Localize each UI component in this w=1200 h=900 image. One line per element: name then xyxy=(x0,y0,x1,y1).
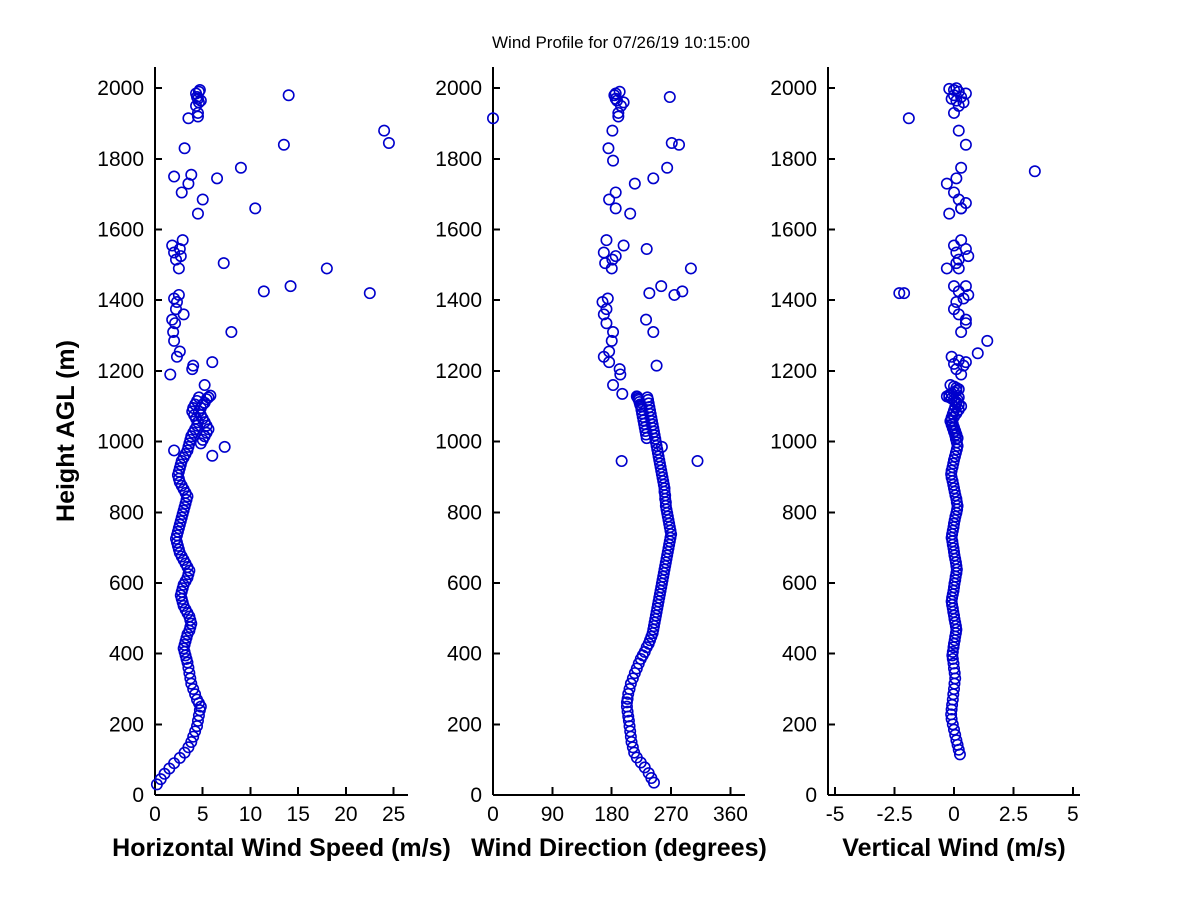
y-tick-label-1-0: 0 xyxy=(132,784,144,807)
y-tick-label-1-8: 1600 xyxy=(97,219,144,242)
y-tick-label-1-7: 1400 xyxy=(97,289,144,312)
wind-profile-figure: 0200400600800100012001400160018002000051… xyxy=(0,0,1200,900)
x-tick-label-2-2: 180 xyxy=(594,803,629,826)
x-tick-label-3-2: 0 xyxy=(948,803,960,826)
x-tick-label-2-4: 360 xyxy=(713,803,748,826)
y-tick-label-3-7: 1400 xyxy=(770,289,817,312)
y-tick-label-1-1: 200 xyxy=(109,713,144,736)
y-tick-label-1-2: 400 xyxy=(109,643,144,666)
y-tick-label-3-0: 0 xyxy=(805,784,817,807)
y-tick-label-2-8: 1600 xyxy=(435,219,482,242)
y-tick-label-2-6: 1200 xyxy=(435,360,482,383)
x-tick-label-1-5: 25 xyxy=(382,803,405,826)
x-tick-label-3-1: -2.5 xyxy=(876,803,912,826)
y-tick-label-1-3: 600 xyxy=(109,572,144,595)
y-tick-label-2-9: 1800 xyxy=(435,148,482,171)
x-tick-label-1-0: 0 xyxy=(149,803,161,826)
x-tick-label-3-0: -5 xyxy=(826,803,845,826)
y-tick-label-1-5: 1000 xyxy=(97,431,144,454)
wind-profile-svg: 0200400600800100012001400160018002000051… xyxy=(0,0,1200,900)
x-tick-label-1-2: 10 xyxy=(239,803,262,826)
y-tick-label-2-5: 1000 xyxy=(435,431,482,454)
x-tick-label-3-4: 5 xyxy=(1067,803,1079,826)
y-tick-label-3-6: 1200 xyxy=(770,360,817,383)
y-tick-label-2-1: 200 xyxy=(447,713,482,736)
y-tick-label-1-6: 1200 xyxy=(97,360,144,383)
y-tick-label-2-10: 2000 xyxy=(435,77,482,100)
y-tick-label-3-8: 1600 xyxy=(770,219,817,242)
x-tick-label-1-1: 5 xyxy=(197,803,209,826)
x-tick-label-2-0: 0 xyxy=(487,803,499,826)
y-tick-label-2-2: 400 xyxy=(447,643,482,666)
x-axis-label-2: Wind Direction (degrees) xyxy=(471,834,767,862)
y-tick-label-3-9: 1800 xyxy=(770,148,817,171)
y-tick-label-2-4: 800 xyxy=(447,501,482,524)
y-tick-label-2-0: 0 xyxy=(470,784,482,807)
y-axis-label: Height AGL (m) xyxy=(52,340,80,522)
y-tick-label-1-4: 800 xyxy=(109,501,144,524)
y-tick-label-3-5: 1000 xyxy=(770,431,817,454)
x-tick-label-2-3: 270 xyxy=(654,803,689,826)
y-tick-label-1-10: 2000 xyxy=(97,77,144,100)
y-tick-label-3-4: 800 xyxy=(782,501,817,524)
y-tick-label-3-1: 200 xyxy=(782,713,817,736)
y-tick-label-1-9: 1800 xyxy=(97,148,144,171)
y-tick-label-2-7: 1400 xyxy=(435,289,482,312)
x-tick-label-3-3: 2.5 xyxy=(999,803,1028,826)
x-tick-label-1-4: 20 xyxy=(334,803,357,826)
x-axis-label-3: Vertical Wind (m/s) xyxy=(842,834,1065,862)
y-tick-label-2-3: 600 xyxy=(447,572,482,595)
y-tick-label-3-10: 2000 xyxy=(770,77,817,100)
chart-title: Wind Profile for 07/26/19 10:15:00 xyxy=(492,33,750,52)
x-tick-label-1-3: 15 xyxy=(287,803,310,826)
y-tick-label-3-2: 400 xyxy=(782,643,817,666)
x-tick-label-2-1: 90 xyxy=(541,803,564,826)
y-tick-label-3-3: 600 xyxy=(782,572,817,595)
x-axis-label-1: Horizontal Wind Speed (m/s) xyxy=(112,834,451,862)
